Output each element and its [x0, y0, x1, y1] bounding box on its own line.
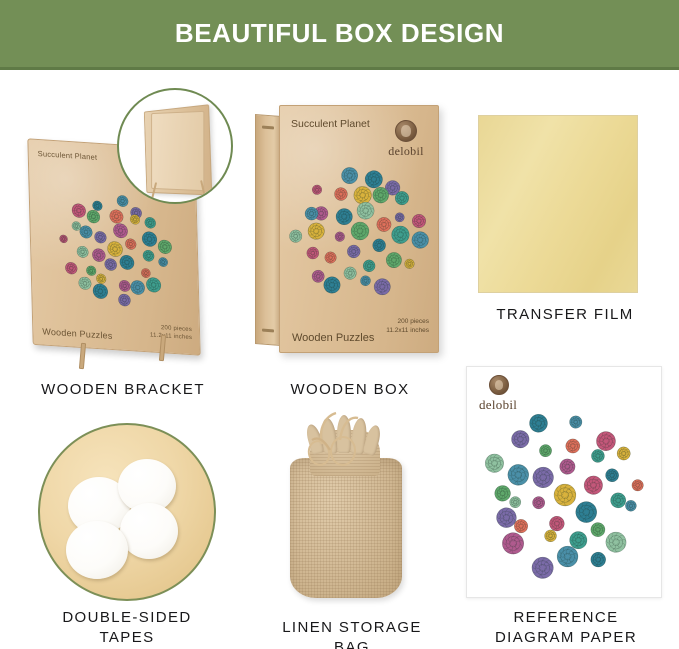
caption-reference-diagram-paper: REFERENCE DIAGRAM PAPER [466, 608, 666, 648]
bag-body [290, 458, 402, 598]
paper-succulent-artwork [467, 367, 662, 598]
box-succulent-artwork [280, 106, 440, 354]
bracket-leg-left [79, 343, 86, 369]
bracket-back-inset [117, 88, 233, 204]
item-linen-storage-bag [278, 410, 414, 602]
bag-drawstring-tails [278, 410, 414, 470]
item-transfer-film [470, 110, 670, 310]
box-notch-bottom [262, 329, 274, 333]
page-title: BEAUTIFUL BOX DESIGN [175, 18, 504, 49]
box-side-panel [255, 114, 281, 346]
caption-linen-storage-bag: LINEN STORAGE BAG [262, 618, 442, 649]
item-wooden-box: Succulent Planet Wooden Puzzles 200 piec… [255, 105, 445, 355]
item-wooden-bracket: Succulent Planet Wooden Puzzles 200 piec… [12, 88, 234, 370]
inset-panel-flap [151, 111, 204, 191]
transfer-film-sheet [478, 115, 638, 293]
caption-wooden-bracket: WOODEN BRACKET [12, 380, 234, 400]
tape-disc [120, 503, 178, 559]
caption-transfer-film: TRANSFER FILM [455, 305, 675, 325]
item-reference-diagram-paper: delobil [466, 366, 666, 604]
box-notch-top [262, 126, 274, 130]
product-infographic: BEAUTIFUL BOX DESIGN Succulent Planet Wo… [0, 0, 679, 649]
caption-wooden-box: WOODEN BOX [250, 380, 450, 400]
tape-disc [66, 521, 128, 579]
caption-double-sided-tapes: DOUBLE-SIDED TAPES [22, 608, 232, 648]
tape-dish [38, 423, 216, 601]
item-double-sided-tapes [38, 423, 216, 601]
header-banner: BEAUTIFUL BOX DESIGN [0, 0, 679, 70]
box-front-panel: Succulent Planet Wooden Puzzles 200 piec… [279, 105, 439, 353]
reference-paper-sheet: delobil [466, 366, 662, 598]
